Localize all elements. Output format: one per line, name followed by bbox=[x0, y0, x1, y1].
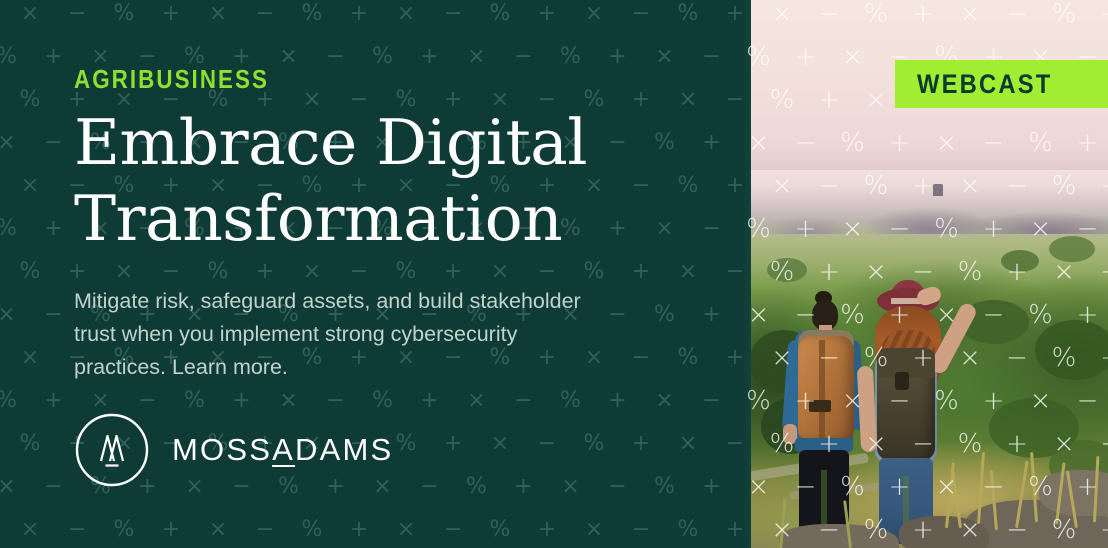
tree-blob bbox=[1001, 250, 1039, 272]
hilltop-structure bbox=[933, 184, 943, 196]
webcast-badge-label: WEBCAST bbox=[917, 69, 1053, 100]
moss-adams-wordmark: MOSSADAMS bbox=[172, 432, 393, 468]
page-title: Embrace Digital Transformation bbox=[74, 105, 694, 257]
distant-ridge bbox=[749, 186, 1108, 234]
moss-adams-mark-icon bbox=[74, 412, 150, 488]
wordmark-suffix: DAMS bbox=[295, 432, 393, 467]
tree-blob bbox=[1035, 320, 1108, 380]
backpack-tan bbox=[798, 336, 854, 440]
headline-line-1: Embrace Digital bbox=[74, 106, 587, 179]
tree-blob bbox=[1049, 236, 1095, 262]
wordmark-underlined-letter: A bbox=[272, 432, 295, 467]
wordmark-prefix: MOSS bbox=[172, 432, 272, 467]
eyebrow-category: AGRIBUSINESS bbox=[74, 64, 269, 95]
subhead-description: Mitigate risk, safeguard assets, and bui… bbox=[74, 285, 614, 384]
webcast-badge: WEBCAST bbox=[895, 60, 1108, 108]
foreground-rock bbox=[899, 516, 989, 548]
headline-line-2: Transformation bbox=[74, 181, 694, 257]
tree-blob bbox=[767, 258, 807, 282]
backpack-buckle bbox=[895, 372, 909, 390]
marketing-banner: ×−%+×−%+×−%+×−%+×−%+×−%+%+×−%+×−%+×−%+×−… bbox=[0, 0, 1108, 548]
backpack-strap bbox=[819, 340, 825, 438]
backpack-patch bbox=[809, 400, 831, 412]
moss-adams-logo[interactable]: MOSSADAMS bbox=[74, 412, 393, 488]
panel-edge bbox=[742, 0, 751, 548]
